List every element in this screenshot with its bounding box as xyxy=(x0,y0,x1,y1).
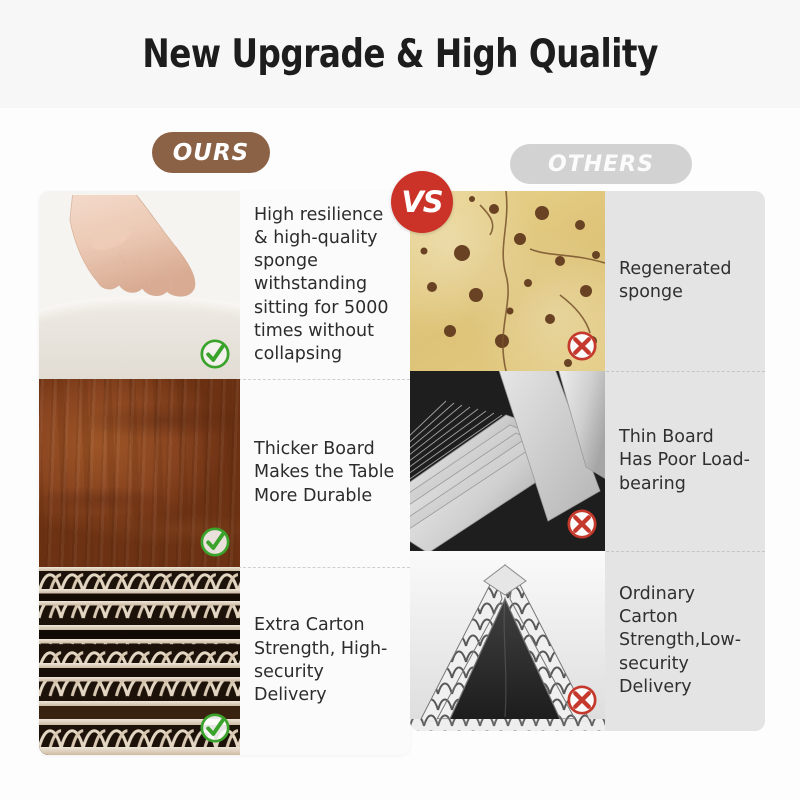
badge-ours-label: OURS xyxy=(173,140,250,166)
cross-circle-icon xyxy=(565,683,599,717)
infographic-page: New Upgrade & High Quality OURS OTHERS V… xyxy=(0,0,800,800)
ours-text-cell-2: Thicker Board Makes the Table More Durab… xyxy=(240,379,410,567)
others-text-cell-2: Thin Board Has Poor Load-bearing xyxy=(605,371,765,551)
vs-badge: VS xyxy=(391,171,453,233)
others-row-1: Regenerated sponge xyxy=(410,191,765,371)
ours-image-2 xyxy=(39,379,240,567)
others-row-3: Ordinary Carton Strength,Low-security De… xyxy=(410,551,765,731)
ours-feature-text-2: Thicker Board Makes the Table More Durab… xyxy=(254,438,396,508)
badge-ours: OURS xyxy=(152,132,270,173)
check-circle-icon xyxy=(198,711,232,745)
ours-feature-text-1: High resilience & high-quality sponge wi… xyxy=(254,204,396,367)
ours-row-1: High resilience & high-quality sponge wi… xyxy=(39,191,410,379)
ours-image-3 xyxy=(39,567,240,755)
check-circle-icon xyxy=(198,337,232,371)
others-text-cell-3: Ordinary Carton Strength,Low-security De… xyxy=(605,551,765,731)
others-image-2 xyxy=(410,371,605,551)
others-panel: Regenerated sponge xyxy=(410,191,765,731)
ours-text-cell-1: High resilience & high-quality sponge wi… xyxy=(240,191,410,379)
ours-row-2: Thicker Board Makes the Table More Durab… xyxy=(39,379,410,567)
cross-circle-icon xyxy=(565,329,599,363)
others-text-cell-1: Regenerated sponge xyxy=(605,191,765,371)
cross-circle-icon xyxy=(565,507,599,541)
ours-image-1 xyxy=(39,191,240,379)
others-image-3 xyxy=(410,551,605,731)
foot-illustration xyxy=(67,195,212,312)
ours-feature-text-3: Extra Carton Strength, High-security Del… xyxy=(254,614,396,707)
ours-row-3: Extra Carton Strength, High-security Del… xyxy=(39,567,410,755)
header-bar: New Upgrade & High Quality xyxy=(0,0,800,108)
check-circle-icon xyxy=(198,525,232,559)
badge-others-label: OTHERS xyxy=(548,152,654,177)
badge-others: OTHERS xyxy=(510,144,692,184)
others-row-2: Thin Board Has Poor Load-bearing xyxy=(410,371,765,551)
others-feature-text-3: Ordinary Carton Strength,Low-security De… xyxy=(619,583,751,699)
others-feature-text-1: Regenerated sponge xyxy=(619,258,751,305)
ours-panel: High resilience & high-quality sponge wi… xyxy=(39,191,410,755)
others-feature-text-2: Thin Board Has Poor Load-bearing xyxy=(619,426,751,496)
vs-label: VS xyxy=(401,185,442,219)
page-title: New Upgrade & High Quality xyxy=(142,32,657,77)
ours-text-cell-3: Extra Carton Strength, High-security Del… xyxy=(240,567,410,755)
